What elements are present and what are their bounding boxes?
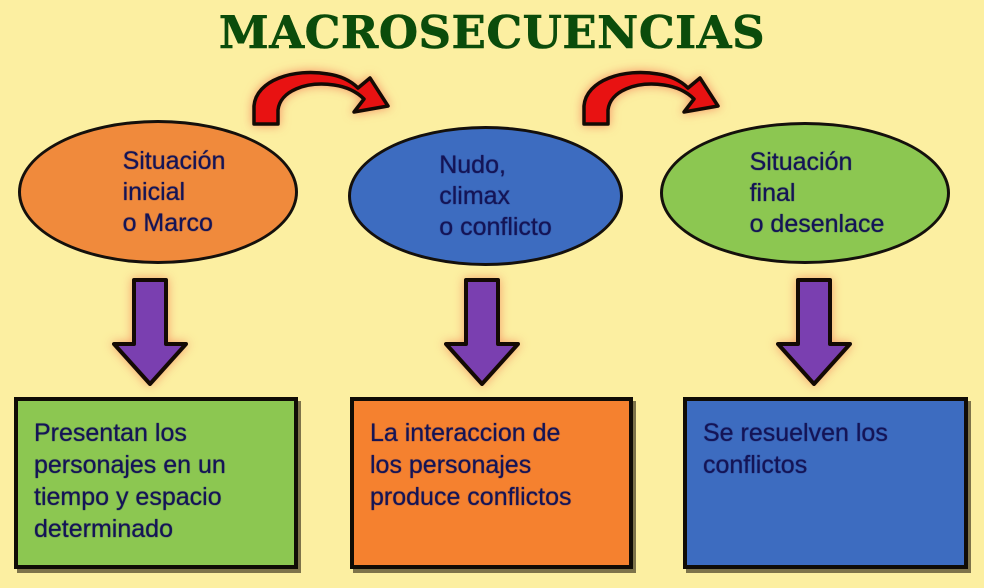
down-arrow-icon [440, 276, 524, 393]
curved-right-arrow-icon [576, 66, 726, 133]
stage-ellipse-2[interactable]: Nudo, climax o conflicto [348, 126, 623, 266]
stage-box-1[interactable]: Presentan los personajes en un tiempo y … [14, 397, 298, 569]
stage-ellipse-1-label: Situación inicial o Marco [115, 146, 226, 239]
stage-ellipse-1[interactable]: Situación inicial o Marco [18, 120, 298, 264]
stage-box-1-label: Presentan los personajes en un tiempo y … [18, 401, 294, 545]
diagram-canvas: MACROSECUENCIAS Situación inicial o Marc… [0, 0, 984, 588]
stage-ellipse-3-label: Situación final o desenlace [742, 147, 885, 240]
down-arrow-icon [108, 276, 192, 393]
stage-box-3[interactable]: Se resuelven los conflictos [683, 397, 968, 569]
down-arrow-icon [772, 276, 856, 393]
curved-right-arrow-icon [246, 66, 396, 133]
stage-box-3-label: Se resuelven los conflictos [687, 401, 964, 481]
stage-ellipse-3[interactable]: Situación final o desenlace [660, 122, 950, 264]
page-title: MACROSECUENCIAS [0, 6, 984, 59]
stage-box-2[interactable]: La interaccion de los personajes produce… [350, 397, 633, 569]
stage-ellipse-2-label: Nudo, climax o conflicto [431, 150, 552, 243]
stage-box-2-label: La interaccion de los personajes produce… [354, 401, 629, 513]
